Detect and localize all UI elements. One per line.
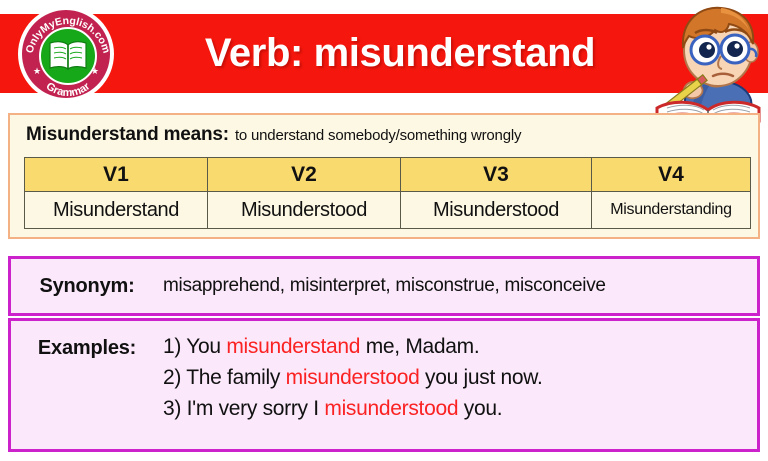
open-book-icon [46,39,90,73]
logo-center [39,27,97,85]
logo-ring: OnlyMyEnglish.com Grammar ★ ★ [20,8,112,100]
verb-form-v1: Misunderstand [25,192,208,229]
verb-table-header-v1: V1 [25,158,208,192]
example-item: 3) I'm very sorry I misunderstood you. [163,397,757,421]
example-item: 2) The family misunderstood you just now… [163,366,757,390]
verb-table-header-v2: V2 [208,158,401,192]
example-highlight-word: misunderstood [286,366,420,389]
example-highlight-word: misunderstood [324,397,458,420]
examples-label: Examples: [11,335,163,360]
meaning-and-forms-block: Misunderstand means: to understand someb… [8,113,760,239]
example-text-before: I'm very sorry I [181,397,324,420]
meaning-row: Misunderstand means: to understand someb… [10,115,758,155]
verb-forms-table: V1 V2 V3 V4 Misunderstand Misunderstood … [24,157,751,229]
synonym-label: Synonym: [11,275,163,298]
examples-section: Examples: 1) You misunderstand me, Madam… [8,318,760,452]
examples-list: 1) You misunderstand me, Madam. 2) The f… [163,335,757,421]
example-text-before: You [181,335,226,358]
example-number: 2) [163,366,181,389]
meaning-definition: to understand somebody/something wrongly [235,127,521,144]
synonym-list: misapprehend, misinterpret, misconstrue,… [163,275,757,297]
example-number: 1) [163,335,181,358]
verb-table-header-v3: V3 [401,158,592,192]
verb-form-v4: Misunderstanding [592,192,751,229]
site-logo: OnlyMyEnglish.com Grammar ★ ★ [18,6,114,102]
synonym-section: Synonym: misapprehend, misinterpret, mis… [8,256,760,316]
boy-studying-illustration [655,0,768,125]
logo-star-left-icon: ★ [33,67,41,76]
example-text-after: me, Madam. [360,335,479,358]
example-text-after: you. [458,397,502,420]
page-title: Verb: misunderstand [140,14,660,93]
meaning-label: Misunderstand means: [26,124,229,146]
verb-table-header-row: V1 V2 V3 V4 [25,158,751,192]
example-item: 1) You misunderstand me, Madam. [163,335,757,359]
verb-form-v2: Misunderstood [208,192,401,229]
example-number: 3) [163,397,181,420]
verb-form-v3: Misunderstood [401,192,592,229]
example-highlight-word: misunderstand [226,335,360,358]
example-text-before: The family [181,366,286,389]
verb-table-header-v4: V4 [592,158,751,192]
verb-table-row: Misunderstand Misunderstood Misunderstoo… [25,192,751,229]
example-text-after: you just now. [419,366,542,389]
